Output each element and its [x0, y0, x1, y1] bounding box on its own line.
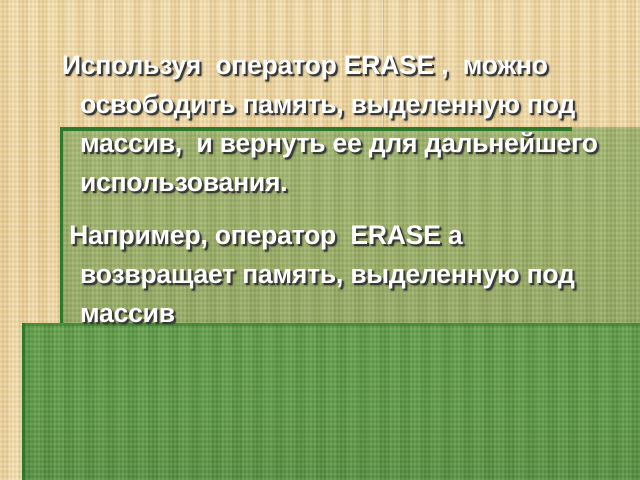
- dark-green-panel-left-border: [22, 323, 25, 480]
- slide-text-content: Используя оператор ERASE , можно освобод…: [52, 46, 612, 333]
- presentation-slide: Используя оператор ERASE , можно освобод…: [0, 0, 640, 480]
- slide-paragraph-2: Например, оператор ERASE a возвращает па…: [52, 216, 612, 333]
- dark-green-panel: [22, 323, 640, 480]
- slide-paragraph-1: Используя оператор ERASE , можно освобод…: [52, 46, 612, 202]
